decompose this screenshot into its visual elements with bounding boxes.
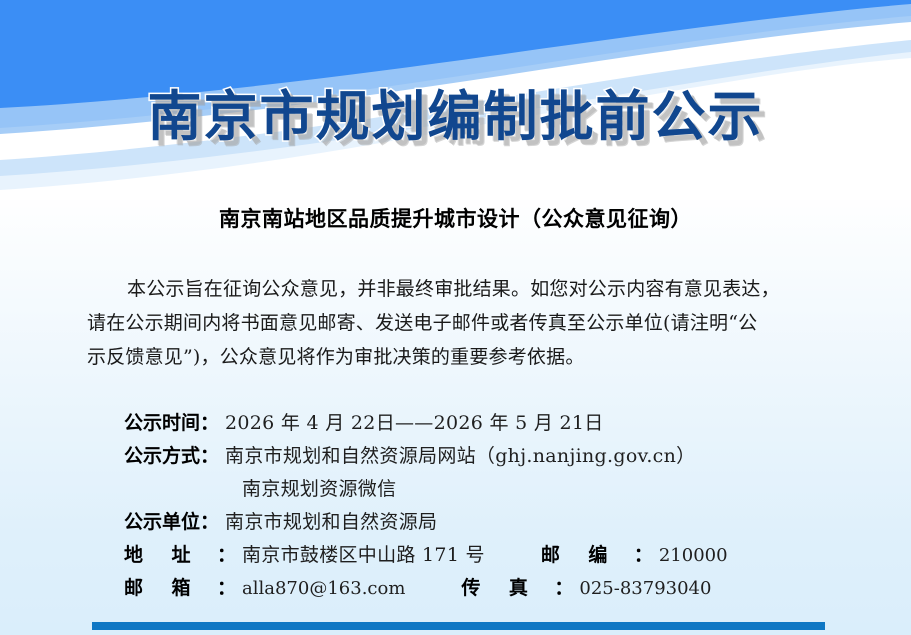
email-label: 邮 箱 ：	[124, 573, 236, 600]
fax-group: 传 真 ： 025-83793040	[461, 573, 711, 600]
project-subtitle: 南京南站地区品质提升城市设计（公众意见征询）	[0, 203, 911, 233]
fax-value: 025-83793040	[579, 578, 711, 599]
email-label-char-1: 邮	[124, 573, 143, 600]
notice-details: 公示时间： 2026 年 4 月 22日——2026 年 5 月 21日 公示方…	[124, 408, 884, 606]
detail-row-unit: 公示单位： 南京市规划和自然资源局	[124, 507, 884, 540]
header-banner: 南京市规划编制批前公示	[0, 0, 911, 200]
postcode-label: 邮 编 ：	[541, 540, 653, 567]
paragraph-line-3: 示反馈意见”)，公众意见将作为审批决策的重要参考依据。	[87, 340, 870, 374]
method-value-secondary: 南京规划资源微信	[242, 474, 396, 501]
email-label-char-2: 箱	[171, 573, 190, 600]
public-notice-poster: 南京市规划编制批前公示 南京南站地区品质提升城市设计（公众意见征询） 本公示旨在…	[0, 0, 911, 635]
detail-row-method: 公示方式： 南京市规划和自然资源局网站（ghj.nanjing.gov.cn）	[124, 441, 884, 474]
fax-label-colon: ：	[554, 573, 573, 600]
detail-row-method-secondary: 南京规划资源微信	[124, 474, 884, 507]
fax-label-char-1: 传	[461, 573, 480, 600]
paragraph-line-1: 本公示旨在征询公众意见，并非最终审批结果。如您对公示内容有意见表达，	[87, 272, 870, 306]
postcode-label-char-1: 邮	[541, 540, 560, 567]
address-label-colon: ：	[217, 540, 236, 567]
page-title: 南京市规划编制批前公示	[0, 72, 911, 151]
postcode-label-colon: ：	[634, 540, 653, 567]
detail-row-email: 邮 箱 ： alla870@163.com 传 真 ： 025-83793040	[124, 573, 884, 606]
paragraph-line-2: 请在公示期间内将书面意见邮寄、发送电子邮件或者传真至公示单位(请注明“公	[87, 306, 870, 340]
period-value: 2026 年 4 月 22日——2026 年 5 月 21日	[225, 408, 604, 435]
period-label: 公示时间：	[124, 408, 219, 435]
address-value: 南京市鼓楼区中山路 171 号	[242, 540, 485, 567]
postcode-group: 邮 编 ： 210000	[541, 540, 728, 567]
address-label: 地 址 ：	[124, 540, 236, 567]
email-value[interactable]: alla870@163.com	[242, 578, 405, 599]
postcode-label-char-2: 编	[588, 540, 607, 567]
bottom-divider	[92, 622, 825, 630]
detail-row-period: 公示时间： 2026 年 4 月 22日——2026 年 5 月 21日	[124, 408, 884, 441]
unit-value: 南京市规划和自然资源局	[225, 507, 437, 534]
fax-label-char-2: 真	[509, 573, 528, 600]
method-label: 公示方式：	[124, 441, 219, 468]
postcode-value: 210000	[659, 545, 728, 566]
email-label-colon: ：	[217, 573, 236, 600]
notice-paragraph: 本公示旨在征询公众意见，并非最终审批结果。如您对公示内容有意见表达， 请在公示期…	[87, 272, 870, 374]
fax-label: 传 真 ：	[461, 573, 573, 600]
detail-row-address: 地 址 ： 南京市鼓楼区中山路 171 号 邮 编 ： 210000	[124, 540, 884, 573]
address-label-char-2: 址	[171, 540, 190, 567]
address-label-char-1: 地	[124, 540, 143, 567]
unit-label: 公示单位：	[124, 507, 219, 534]
method-value[interactable]: 南京市规划和自然资源局网站（ghj.nanjing.gov.cn）	[225, 441, 695, 468]
